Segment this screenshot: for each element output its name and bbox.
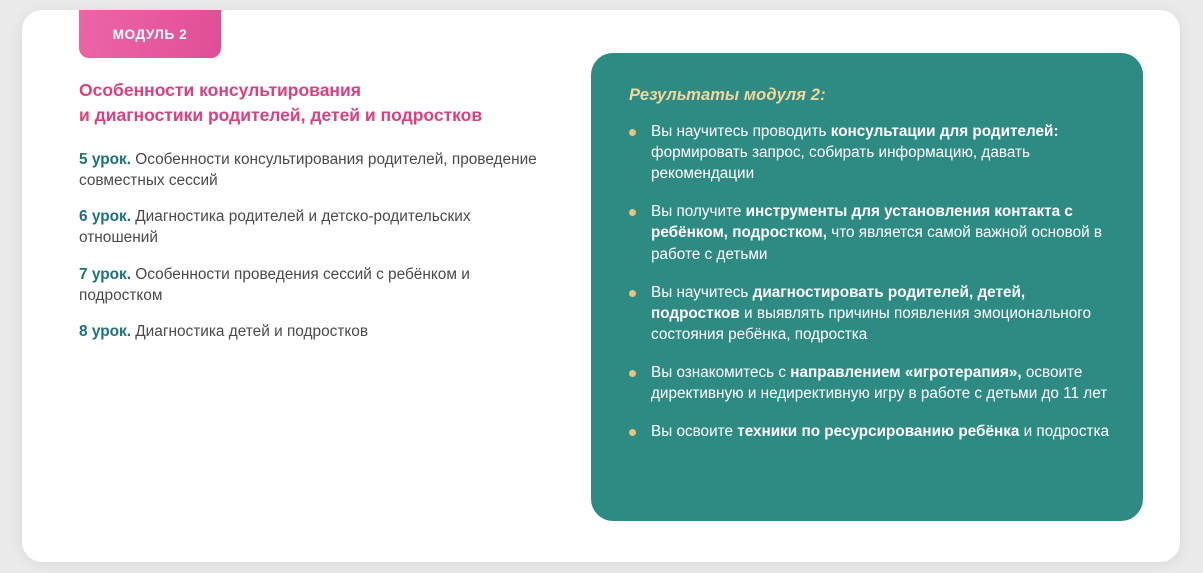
module-title-line-2: и диагностики родителей, детей и подрост… (79, 105, 482, 125)
lesson-number: 7 урок. (79, 266, 131, 283)
lesson-item: 8 урок. Диагностика детей и подростков (79, 321, 549, 342)
result-item: Вы освоите техники по ресурсированию реб… (629, 421, 1109, 442)
result-text-emphasis: техники по ресурсированию ребёнка (737, 423, 1019, 440)
page-root: МОДУЛЬ 2 Особенности консультирования и … (0, 0, 1203, 573)
result-text: Вы ознакомитесь с (651, 364, 790, 381)
bullet-dot-icon (629, 129, 636, 136)
lesson-number: 6 урок. (79, 208, 131, 225)
result-item: Вы научитесь диагностировать родителей, … (629, 282, 1109, 345)
module-title-line-1: Особенности консультирования (79, 80, 361, 100)
module-badge: МОДУЛЬ 2 (79, 10, 221, 58)
result-text: и подростка (1019, 423, 1109, 440)
bullet-dot-icon (629, 209, 636, 216)
lesson-number: 8 урок. (79, 323, 131, 340)
lesson-text: Особенности проведения сессий с ребёнком… (79, 266, 470, 304)
result-text: Вы получите (651, 203, 746, 220)
module-card: МОДУЛЬ 2 Особенности консультирования и … (22, 10, 1180, 562)
result-item: Вы получите инструменты для установления… (629, 201, 1109, 264)
module-badge-label: МОДУЛЬ 2 (113, 27, 187, 42)
lesson-item: 6 урок. Диагностика родителей и детско-р… (79, 206, 549, 249)
module-title: Особенности консультирования и диагности… (79, 78, 549, 128)
result-text: Вы научитесь (651, 284, 753, 301)
lesson-text: Диагностика родителей и детско-родительс… (79, 208, 471, 246)
results-list: Вы научитесь проводить консультации для … (629, 121, 1109, 442)
bullet-dot-icon (629, 429, 636, 436)
result-text-emphasis: направлением «игротерапия», (790, 364, 1021, 381)
bullet-dot-icon (629, 290, 636, 297)
result-text: формировать запрос, собирать информацию,… (651, 144, 1030, 182)
lesson-text: Особенности консультирования родителей, … (79, 151, 537, 189)
lesson-number: 5 урок. (79, 151, 131, 168)
result-item: Вы ознакомитесь с направлением «игротера… (629, 362, 1109, 404)
module-left-column: Особенности консультирования и диагности… (79, 78, 549, 342)
results-panel: Результаты модуля 2: Вы научитесь провод… (591, 53, 1143, 521)
lesson-text: Диагностика детей и подростков (131, 323, 368, 340)
bullet-dot-icon (629, 370, 636, 377)
result-item: Вы научитесь проводить консультации для … (629, 121, 1109, 184)
result-text: Вы освоите (651, 423, 737, 440)
lesson-item: 5 урок. Особенности консультирования род… (79, 149, 549, 192)
results-panel-title: Результаты модуля 2: (629, 86, 1109, 105)
result-text: Вы научитесь проводить (651, 123, 831, 140)
result-text-emphasis: консультации для родителей: (831, 123, 1059, 140)
lesson-list: 5 урок. Особенности консультирования род… (79, 149, 549, 343)
lesson-item: 7 урок. Особенности проведения сессий с … (79, 264, 549, 307)
